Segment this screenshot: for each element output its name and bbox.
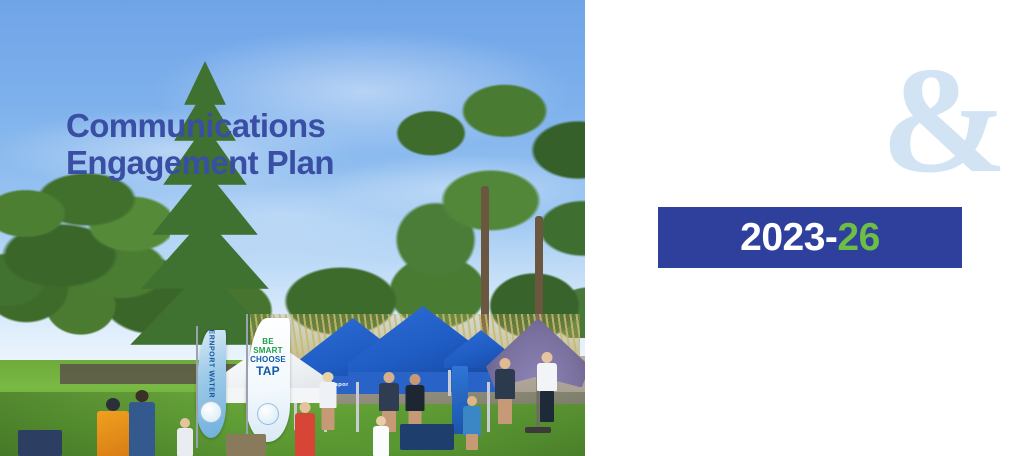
child-in-red bbox=[294, 402, 316, 456]
year-range-end: 26 bbox=[837, 218, 879, 257]
choose-tap-line-4: TAP bbox=[246, 365, 290, 378]
person-legs bbox=[466, 434, 478, 450]
person-legs bbox=[322, 408, 335, 430]
event-photograph: westernportwater.com.au bbox=[0, 0, 585, 456]
equipment-crate bbox=[226, 434, 266, 456]
equipment-crate bbox=[400, 424, 454, 450]
person-body bbox=[406, 385, 425, 411]
person-body bbox=[379, 383, 399, 411]
person-head bbox=[376, 416, 386, 426]
person-walking-path-left bbox=[494, 358, 516, 424]
umbrella-base bbox=[525, 427, 551, 433]
person-body bbox=[177, 428, 193, 456]
person-in-hat bbox=[318, 372, 338, 430]
person-head bbox=[500, 358, 511, 369]
child-white-shirt bbox=[372, 416, 390, 456]
westernport-water-logo bbox=[200, 401, 222, 423]
person-head bbox=[323, 372, 334, 382]
person-legs bbox=[540, 391, 554, 422]
person-head bbox=[300, 402, 311, 413]
flag-pole bbox=[246, 314, 248, 454]
choose-tap-logo bbox=[257, 403, 279, 425]
person-head bbox=[410, 374, 421, 385]
page-title: Communications Engagement Plan bbox=[66, 108, 446, 182]
child-foreground bbox=[176, 418, 194, 456]
westernport-water-flag: WESTERNPORT WATER bbox=[196, 330, 226, 438]
person-orange-foreground bbox=[96, 398, 130, 456]
person-head bbox=[136, 390, 149, 402]
year-badge: 2023-26 bbox=[658, 207, 962, 268]
person-body bbox=[320, 382, 337, 408]
person-body bbox=[295, 413, 315, 456]
year-range-start: 2023- bbox=[740, 218, 837, 257]
person-body bbox=[97, 411, 129, 456]
flag-pole bbox=[196, 326, 198, 448]
person-body bbox=[495, 369, 515, 399]
person-legs bbox=[498, 399, 512, 424]
title-line-communications: Communications bbox=[66, 108, 446, 145]
person-body bbox=[463, 406, 481, 436]
person-head bbox=[106, 398, 120, 411]
person-body bbox=[537, 363, 557, 391]
person-head bbox=[180, 418, 190, 428]
person-body bbox=[129, 402, 155, 456]
person-head bbox=[384, 372, 395, 383]
tent-leg bbox=[356, 382, 359, 432]
person-foreground-blue bbox=[128, 390, 156, 456]
choose-tap-flag-text: BE SMART CHOOSE TAP bbox=[246, 338, 290, 378]
tent-leg bbox=[448, 370, 451, 396]
cover-page: westernportwater.com.au bbox=[0, 0, 1030, 456]
person-head bbox=[542, 352, 553, 363]
person-walking-path-right bbox=[536, 352, 558, 422]
westernport-water-flag-text: WESTERNPORT WATER bbox=[208, 330, 215, 399]
person-head bbox=[467, 396, 477, 406]
title-line-engagement-plan: Engagement Plan bbox=[66, 145, 446, 182]
person-body bbox=[373, 426, 389, 456]
equipment-crate bbox=[18, 430, 62, 456]
person-right-crowd bbox=[462, 396, 482, 450]
ampersand-decoration: & bbox=[881, 44, 1008, 196]
